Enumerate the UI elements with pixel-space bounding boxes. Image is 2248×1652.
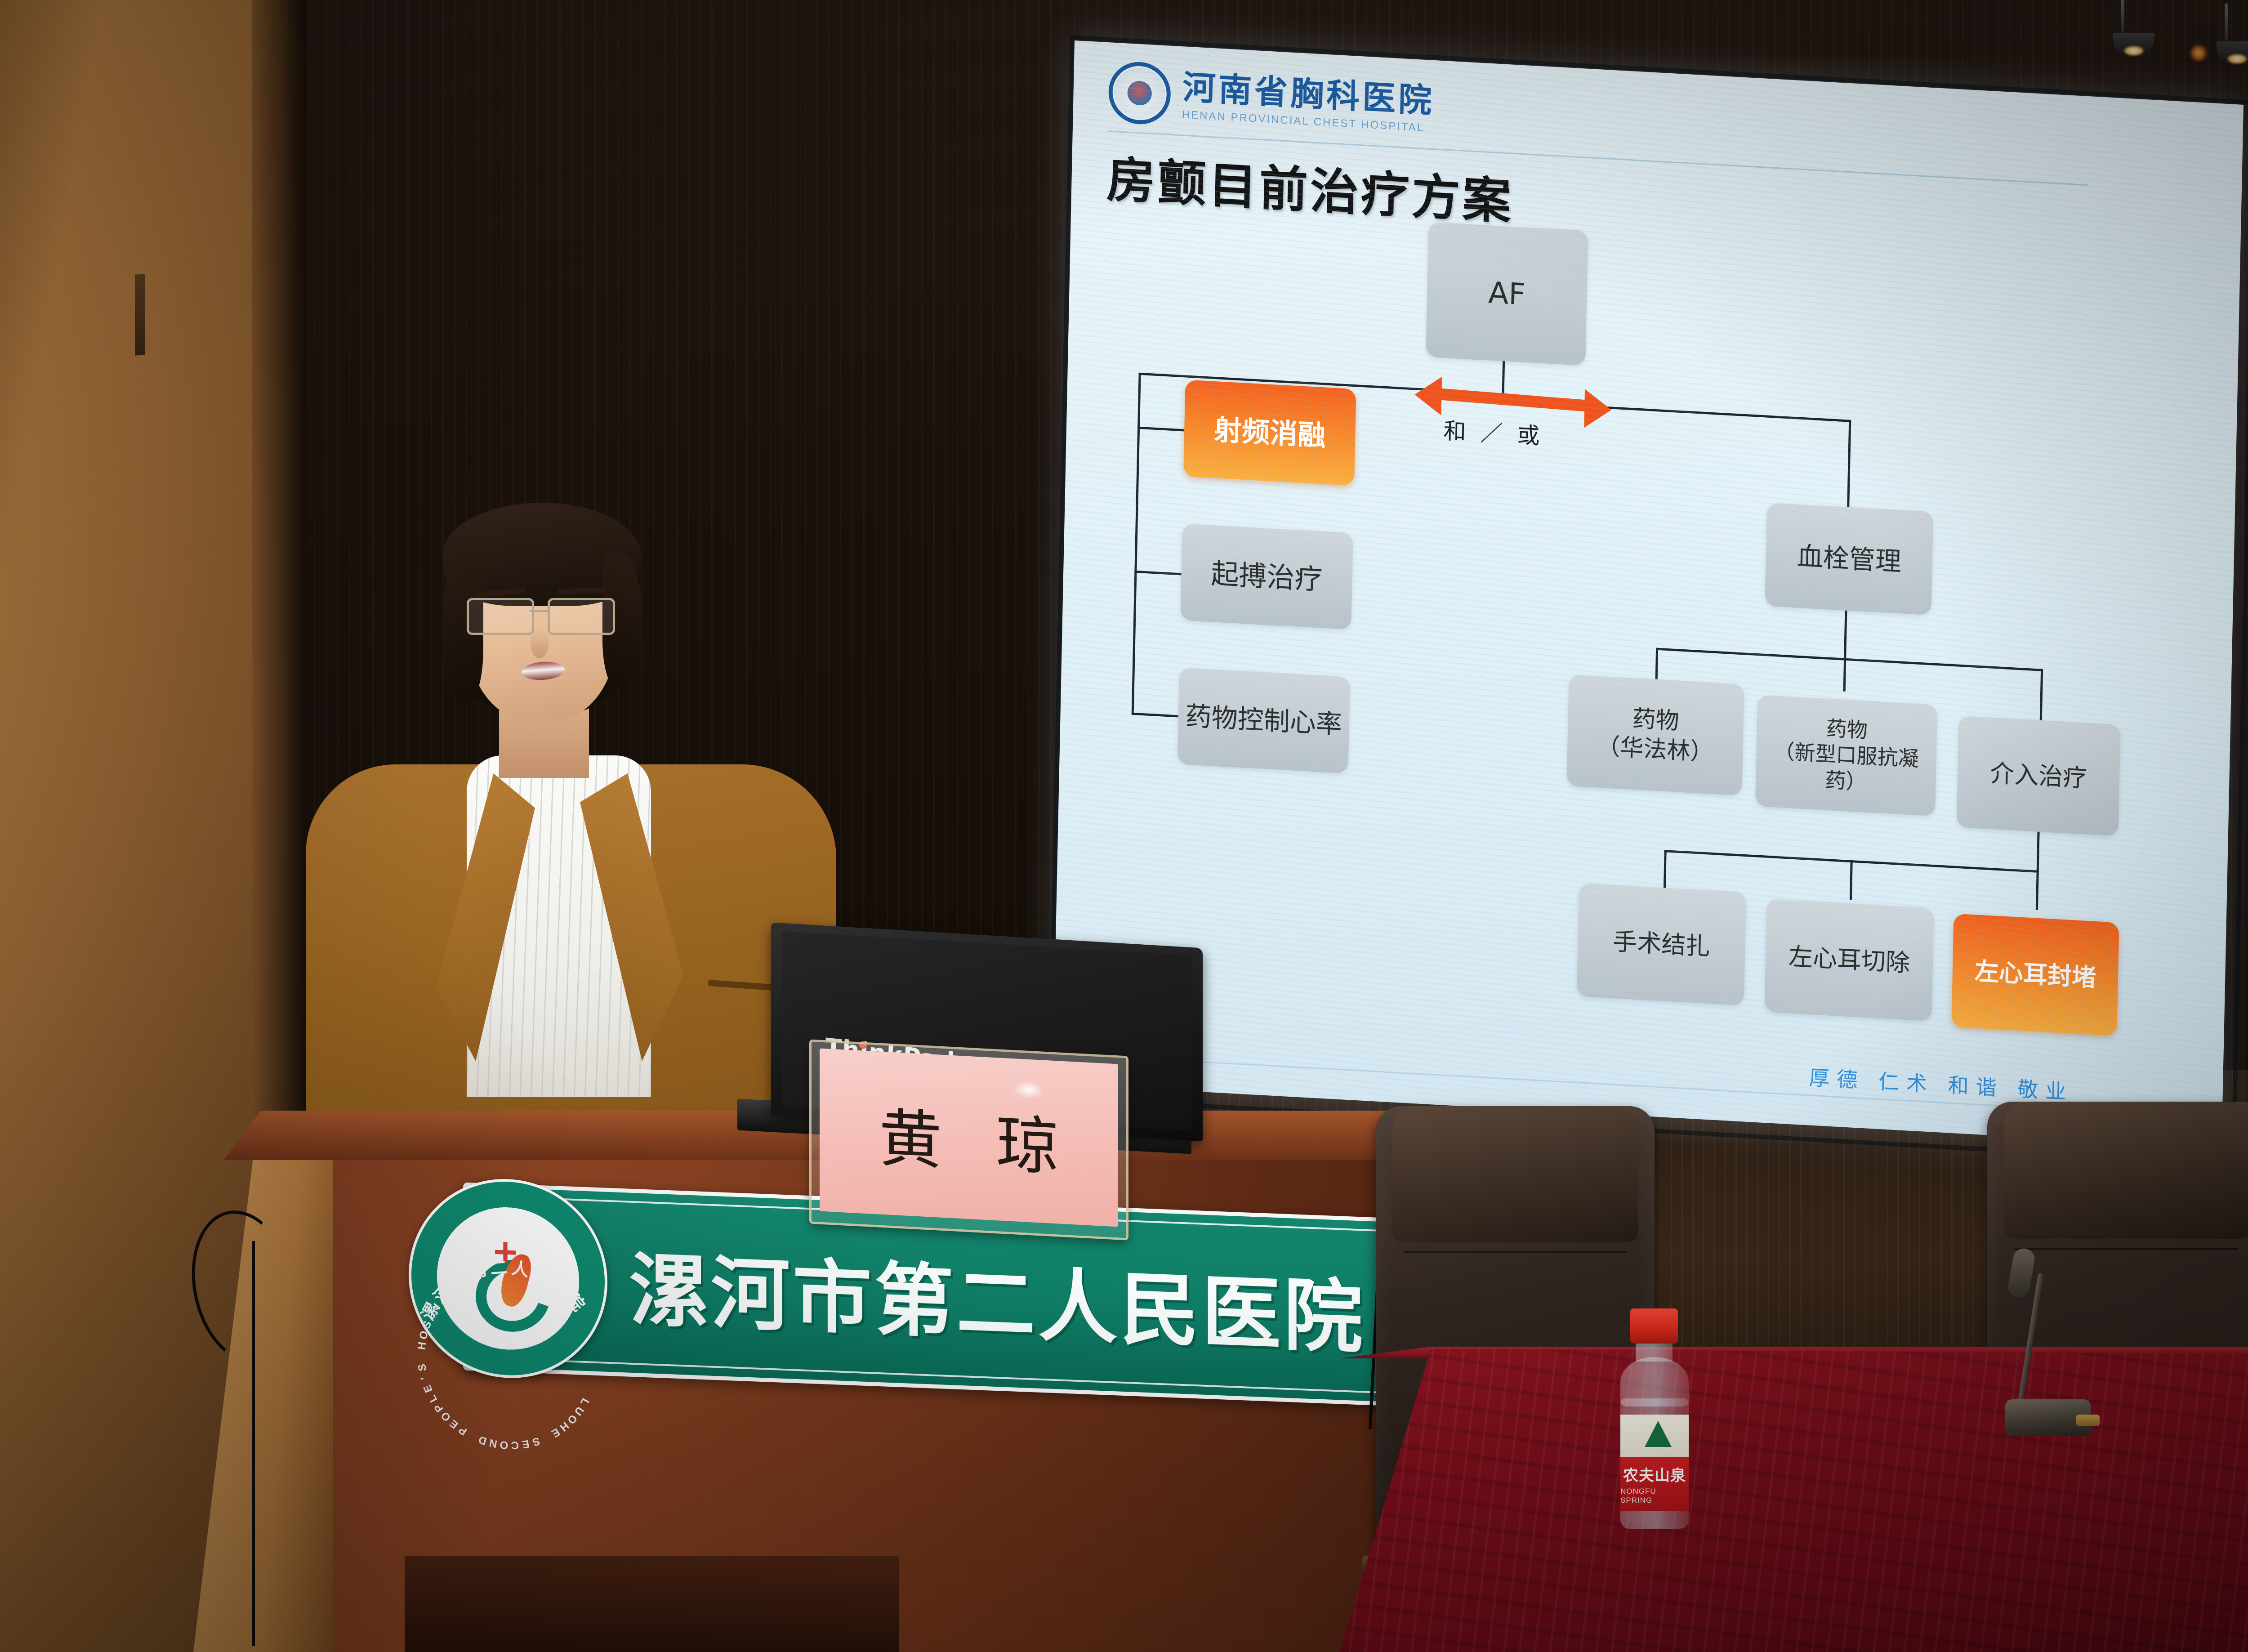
flow-node-pacing: 起搏治疗: [1180, 523, 1353, 630]
flow-drop-noac: [1843, 658, 1847, 692]
projection-screen: 河南省胸科医院 HENAN PROVINCIAL CHEST HOSPITAL …: [1053, 40, 2244, 1148]
flow-drop-ligation: [1664, 850, 1667, 889]
flow-node-excision: 左心耳切除: [1764, 899, 1934, 1021]
flow-node-occlusion: 左心耳封堵: [1951, 914, 2119, 1036]
bottle-cap[interactable]: [1630, 1308, 1678, 1344]
bottle-label-lower: 农夫山泉 NONGFU SPRING: [1620, 1457, 1689, 1511]
flow-branch-rate: [1132, 713, 1181, 718]
flow-node-warfarin: 药物 （华法林）: [1566, 674, 1744, 795]
flow-drop-excision: [1850, 860, 1853, 900]
table-velvet-texture: [1340, 1349, 2248, 1652]
bottle-shoulder: [1620, 1357, 1689, 1406]
flow-drop-occlusion: [2036, 871, 2039, 910]
flow-edge-to-thrombus: [1847, 420, 1851, 510]
flow-node-af: AF: [1426, 222, 1588, 366]
hospital-seal-icon: [1108, 60, 1171, 126]
nameplate-holder: 黄 琼: [809, 1039, 1128, 1240]
panel-table: [1340, 1349, 2248, 1652]
flow-drop-warfarin: [1655, 648, 1659, 681]
podium-cable-drop: [252, 1241, 273, 1646]
flow-node-rate-control: 药物控制心率: [1178, 667, 1351, 773]
treatment-flowchart: AF 和 ／ 或 射: [1054, 189, 2240, 1089]
flow-node-noac: 药物 （新型口服抗凝药）: [1755, 695, 1937, 816]
andor-arrow-right: [1584, 389, 1612, 429]
andor-arrow-bar: [1440, 388, 1589, 412]
flow-spine-right: [1575, 405, 1850, 422]
flow-node-ligation: 手术结扎: [1577, 883, 1746, 1005]
speaker-glasses: [467, 598, 624, 632]
flow-edge-thrombus-down: [1844, 611, 1847, 660]
nameplate-surname: 黄: [879, 1088, 942, 1182]
speaker-nose: [531, 630, 549, 658]
conference-microphone[interactable]: [1978, 1272, 2095, 1430]
flow-node-intervention: 介入治疗: [1957, 716, 2121, 836]
bottle-brand-cn: 农夫山泉: [1623, 1463, 1686, 1485]
flow-left-rail: [1132, 373, 1141, 714]
seal-arc-text-en: LUOHE SECOND PEOPLE'S HOSPITAL: [411, 1178, 605, 1379]
flow-node-thrombus: 血栓管理: [1765, 503, 1933, 615]
flow-drop-interv: [2040, 669, 2043, 722]
slide-content: 河南省胸科医院 HENAN PROVINCIAL CHEST HOSPITAL …: [1053, 40, 2244, 1148]
speaker-nameplate: 黄 琼: [820, 1049, 1118, 1227]
bottle-brand-en: NONGFU SPRING: [1620, 1487, 1689, 1505]
andor-label: 和 ／ 或: [1443, 413, 1543, 451]
andor-arrow-left: [1414, 375, 1442, 415]
flow-branch-rfa: [1137, 427, 1187, 432]
podium-banner-text: 漯河市第二人民医院: [629, 1225, 1365, 1368]
flow-branch-pace: [1134, 571, 1184, 576]
luohe-hospital-seal-icon: 漯河市第二人民医院 LUOHE SECOND PEOPLE'S HOSPITAL: [409, 1175, 607, 1382]
wall-seam-notch: [135, 274, 145, 356]
flow-node-rfa: 射频消融: [1183, 380, 1356, 486]
mountain-logo-icon: [1645, 1421, 1672, 1447]
nameplate-given-name: 琼: [996, 1094, 1059, 1188]
water-bottle[interactable]: 农夫山泉 NONGFU SPRING: [1610, 1308, 1699, 1533]
flow-bus-thrombus: [1656, 648, 2043, 671]
podium-base: [405, 1556, 899, 1652]
flow-edge-interv-down: [2037, 832, 2040, 873]
conference-photo-scene: 河南省胸科医院 HENAN PROVINCIAL CHEST HOSPITAL …: [0, 0, 2248, 1652]
mic-connector: [2076, 1415, 2100, 1426]
hospital-brand-lockup: 河南省胸科医院 HENAN PROVINCIAL CHEST HOSPITAL: [1108, 60, 1435, 140]
projection-screen-area: 河南省胸科医院 HENAN PROVINCIAL CHEST HOSPITAL …: [1075, 40, 2248, 1120]
